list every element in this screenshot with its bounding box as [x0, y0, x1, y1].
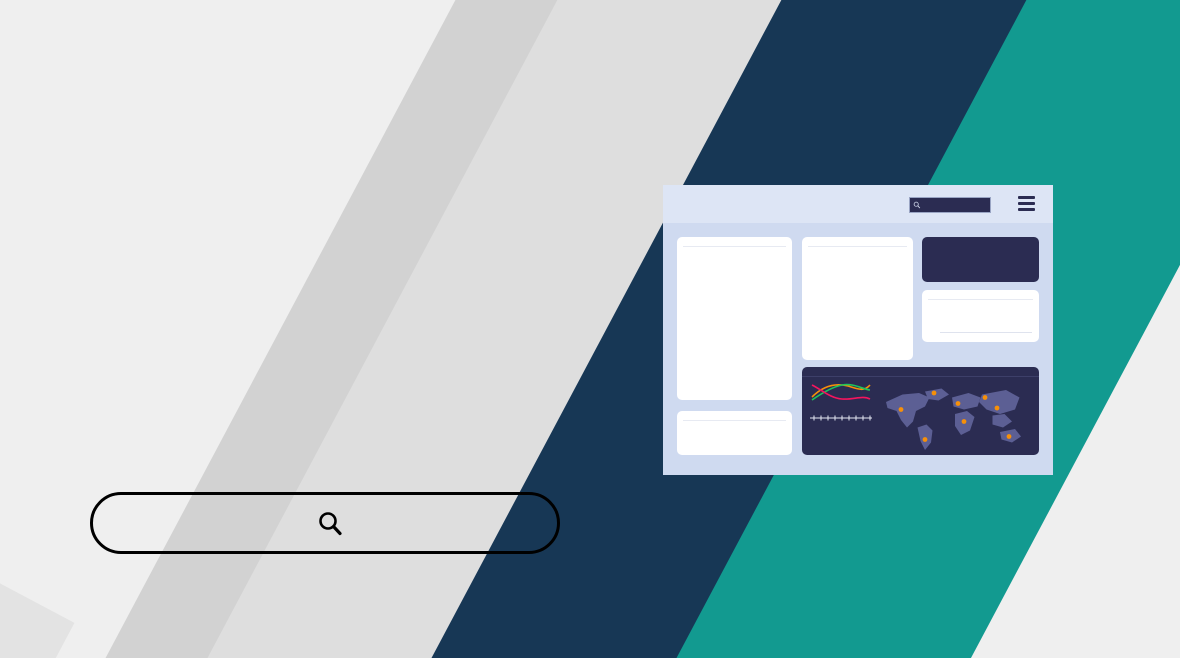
pie-chart — [810, 253, 866, 309]
investment-card-header — [802, 237, 913, 246]
dashboard-topbar — [663, 185, 1053, 223]
divider — [683, 246, 786, 247]
all-time-earnings-card — [677, 411, 792, 455]
banner-canvas — [0, 0, 1180, 658]
monthly-investment-card — [802, 237, 913, 360]
world-stats — [810, 381, 876, 458]
world-card-header — [802, 367, 1039, 376]
dashboard-illustration — [663, 185, 1053, 475]
earnings-value — [677, 421, 792, 429]
world-activity-card — [802, 367, 1039, 455]
divider — [802, 376, 1039, 377]
activity-card-header — [922, 290, 1039, 299]
divider — [928, 299, 1033, 300]
submit-customization-request-button[interactable] — [90, 492, 560, 554]
earnings-card-header — [677, 411, 792, 420]
last-sales-card — [922, 237, 1039, 282]
axis-ticks — [810, 415, 872, 421]
pie-chart-area — [802, 247, 913, 309]
investment-caption — [802, 309, 913, 313]
search-input[interactable] — [909, 197, 991, 213]
activity-card — [922, 290, 1039, 342]
skills-card-header — [677, 237, 792, 246]
activity-bars — [940, 302, 1032, 333]
activity-bar-chart — [929, 302, 1032, 332]
search-icon — [317, 510, 343, 536]
trend-line-chart — [810, 381, 872, 403]
skills-earned-card — [677, 237, 792, 400]
hamburger-menu-icon[interactable] — [1018, 196, 1035, 211]
world-card-body — [802, 379, 1039, 458]
sales-card-header — [922, 237, 1039, 246]
background-band-bottom-left — [0, 360, 74, 658]
world-map — [880, 381, 1031, 458]
magnifier-icon — [913, 196, 921, 214]
